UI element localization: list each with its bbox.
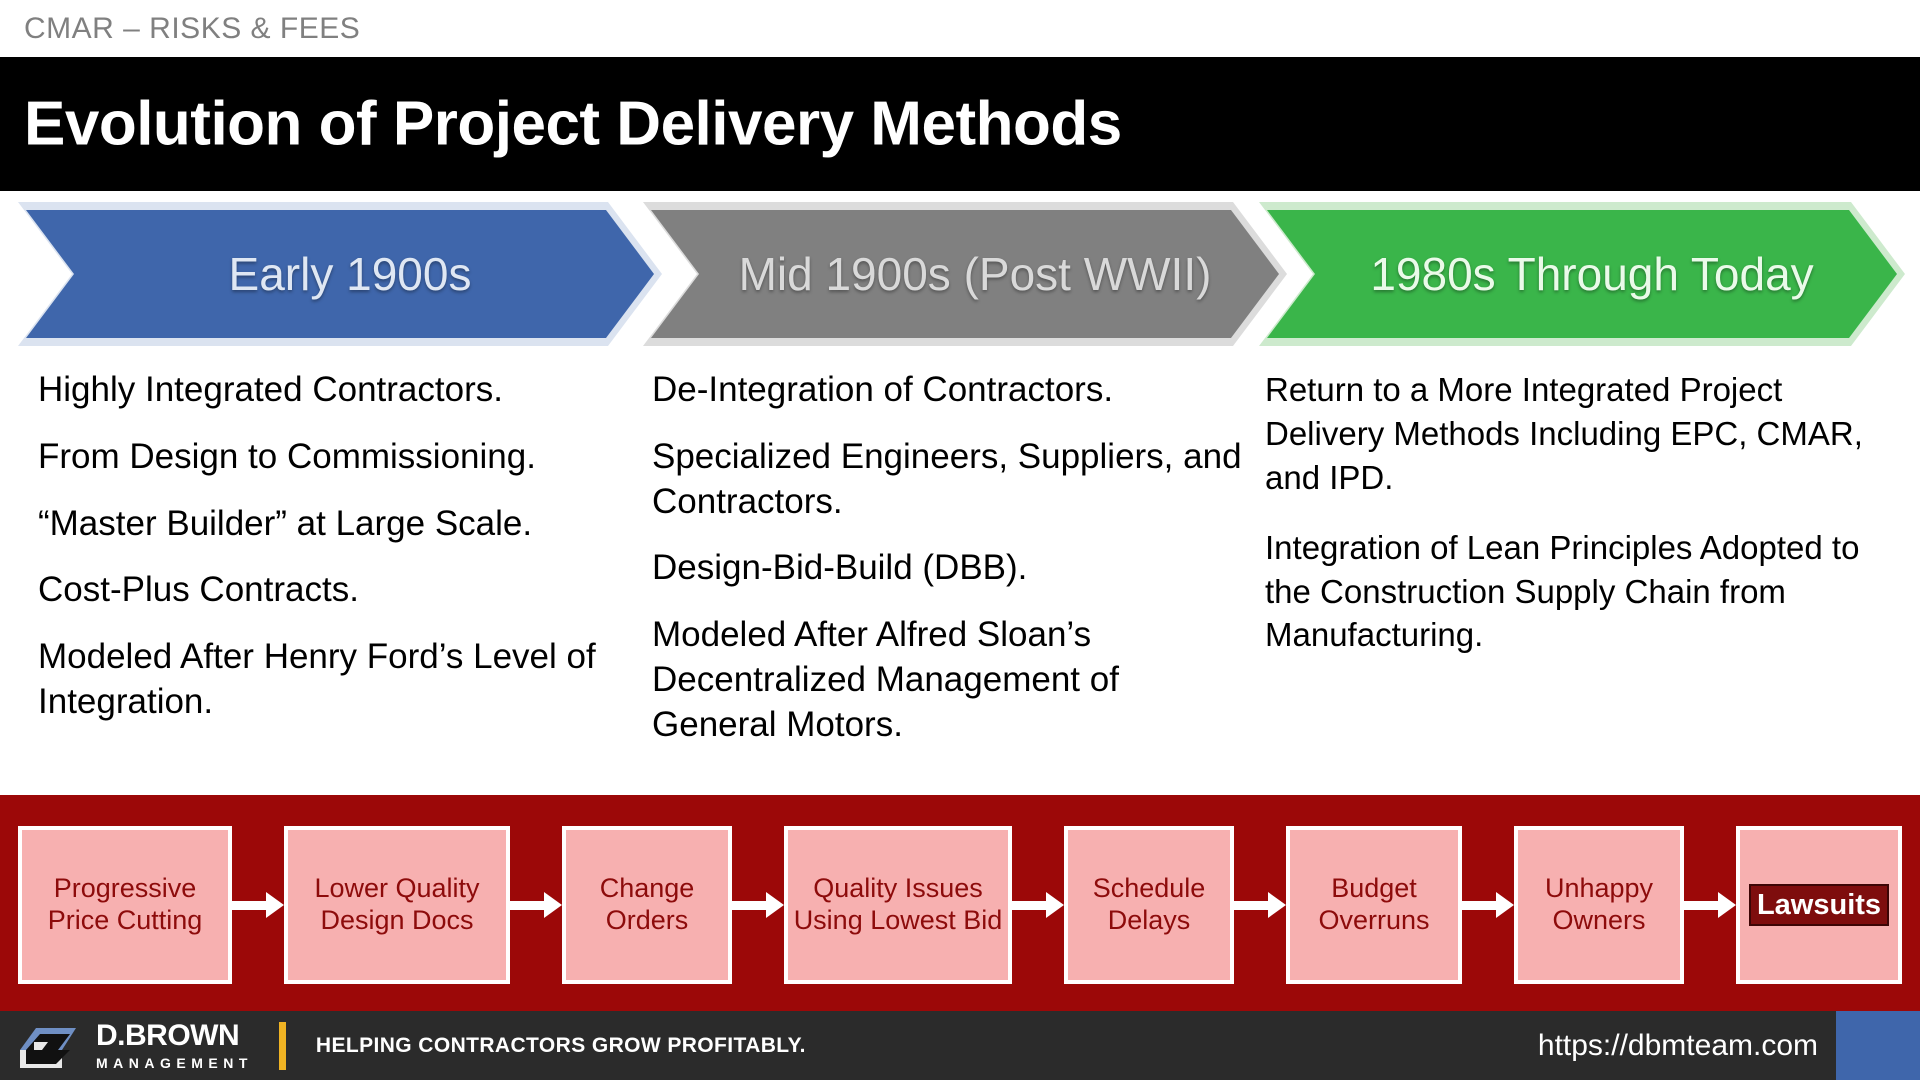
process-step-label: Lawsuits: [1751, 886, 1887, 924]
phase-bullet: Highly Integrated Contractors.: [38, 368, 638, 413]
footer-brand: D.BROWN MANAGEMENT HELPING CONTRACTORS G…: [18, 1011, 806, 1080]
process-step-label: Lower Quality Design Docs: [292, 873, 502, 937]
process-step-label: Quality Issues Using Lowest Bid: [792, 873, 1004, 937]
process-arrow-icon: [1234, 892, 1286, 918]
logo-name: D.BROWN: [96, 1021, 253, 1051]
footer-bar: D.BROWN MANAGEMENT HELPING CONTRACTORS G…: [0, 1011, 1920, 1080]
process-step-2[interactable]: Lower Quality Design Docs: [284, 826, 510, 984]
phase-bullet: From Design to Commissioning.: [38, 435, 638, 480]
phase-bullet: Integration of Lean Principles Adopted t…: [1265, 526, 1885, 658]
process-step-7[interactable]: Unhappy Owners: [1514, 826, 1684, 984]
process-arrow-icon: [510, 892, 562, 918]
slide-kicker: CMAR – RISKS & FEES: [24, 12, 360, 46]
footer-tagline: HELPING CONTRACTORS GROW PROFITABLY.: [316, 1034, 806, 1058]
phase-bullet: Modeled After Alfred Sloan’s Decentraliz…: [652, 613, 1252, 747]
process-arrow-icon: [1012, 892, 1064, 918]
phase-bullet: “Master Builder” at Large Scale.: [38, 502, 638, 547]
process-step-label: Budget Overruns: [1294, 873, 1454, 937]
risk-cascade-flow: Progressive Price Cutting Lower Quality …: [18, 826, 1902, 984]
phase-chevron-3[interactable]: 1980s Through Today: [1267, 210, 1897, 338]
phase-chevron-row: Early 1900s Mid 1900s (Post WWII) 1980s …: [0, 202, 1920, 342]
phase-bullet: De-Integration of Contractors.: [652, 368, 1252, 413]
process-step-5[interactable]: Schedule Delays: [1064, 826, 1234, 984]
footer-url[interactable]: https://dbmteam.com: [1538, 1029, 1818, 1063]
phase-detail-columns: Highly Integrated Contractors. From Desi…: [0, 368, 1920, 788]
phase-bullet: Design-Bid-Build (DBB).: [652, 546, 1252, 591]
process-step-label: Unhappy Owners: [1522, 873, 1676, 937]
process-step-3[interactable]: Change Orders: [562, 826, 732, 984]
phase-bullet: Cost-Plus Contracts.: [38, 568, 638, 613]
dbrown-logo-icon: [18, 1020, 80, 1072]
phase-chevron-label-2: Mid 1900s (Post WWII): [719, 247, 1212, 301]
logo-subname: MANAGEMENT: [96, 1056, 253, 1070]
page-title: Evolution of Project Delivery Methods: [24, 89, 1122, 160]
process-step-4[interactable]: Quality Issues Using Lowest Bid: [784, 826, 1012, 984]
phase-bullet: Specialized Engineers, Suppliers, and Co…: [652, 435, 1252, 525]
dbrown-wordmark: D.BROWN MANAGEMENT: [96, 1021, 253, 1070]
phase-chevron-1[interactable]: Early 1900s: [26, 210, 654, 338]
risk-cascade-strip: Progressive Price Cutting Lower Quality …: [0, 795, 1920, 1011]
phase-chevron-2[interactable]: Mid 1900s (Post WWII): [651, 210, 1279, 338]
process-step-label: Change Orders: [570, 873, 724, 937]
slide-root: CMAR – RISKS & FEES Evolution of Project…: [0, 0, 1920, 1080]
phase-column-3: Return to a More Integrated Project Deli…: [1265, 368, 1885, 683]
process-arrow-icon: [732, 892, 784, 918]
phase-bullet: Return to a More Integrated Project Deli…: [1265, 368, 1885, 500]
process-arrow-icon: [232, 892, 284, 918]
process-arrow-icon: [1462, 892, 1514, 918]
footer-accent-block: [1836, 1011, 1920, 1080]
footer-divider: [279, 1022, 286, 1070]
phase-chevron-label-1: Early 1900s: [209, 247, 472, 301]
process-step-8[interactable]: Lawsuits: [1736, 826, 1902, 984]
phase-column-1: Highly Integrated Contractors. From Desi…: [38, 368, 638, 747]
process-step-1[interactable]: Progressive Price Cutting: [18, 826, 232, 984]
process-step-label: Progressive Price Cutting: [26, 873, 224, 937]
process-step-label: Schedule Delays: [1072, 873, 1226, 937]
phase-column-2: De-Integration of Contractors. Specializ…: [652, 368, 1252, 770]
phase-bullet: Modeled After Henry Ford’s Level of Inte…: [38, 635, 638, 725]
process-arrow-icon: [1684, 892, 1736, 918]
title-band: Evolution of Project Delivery Methods: [0, 57, 1920, 191]
process-step-6[interactable]: Budget Overruns: [1286, 826, 1462, 984]
phase-chevron-label-3: 1980s Through Today: [1350, 247, 1813, 301]
